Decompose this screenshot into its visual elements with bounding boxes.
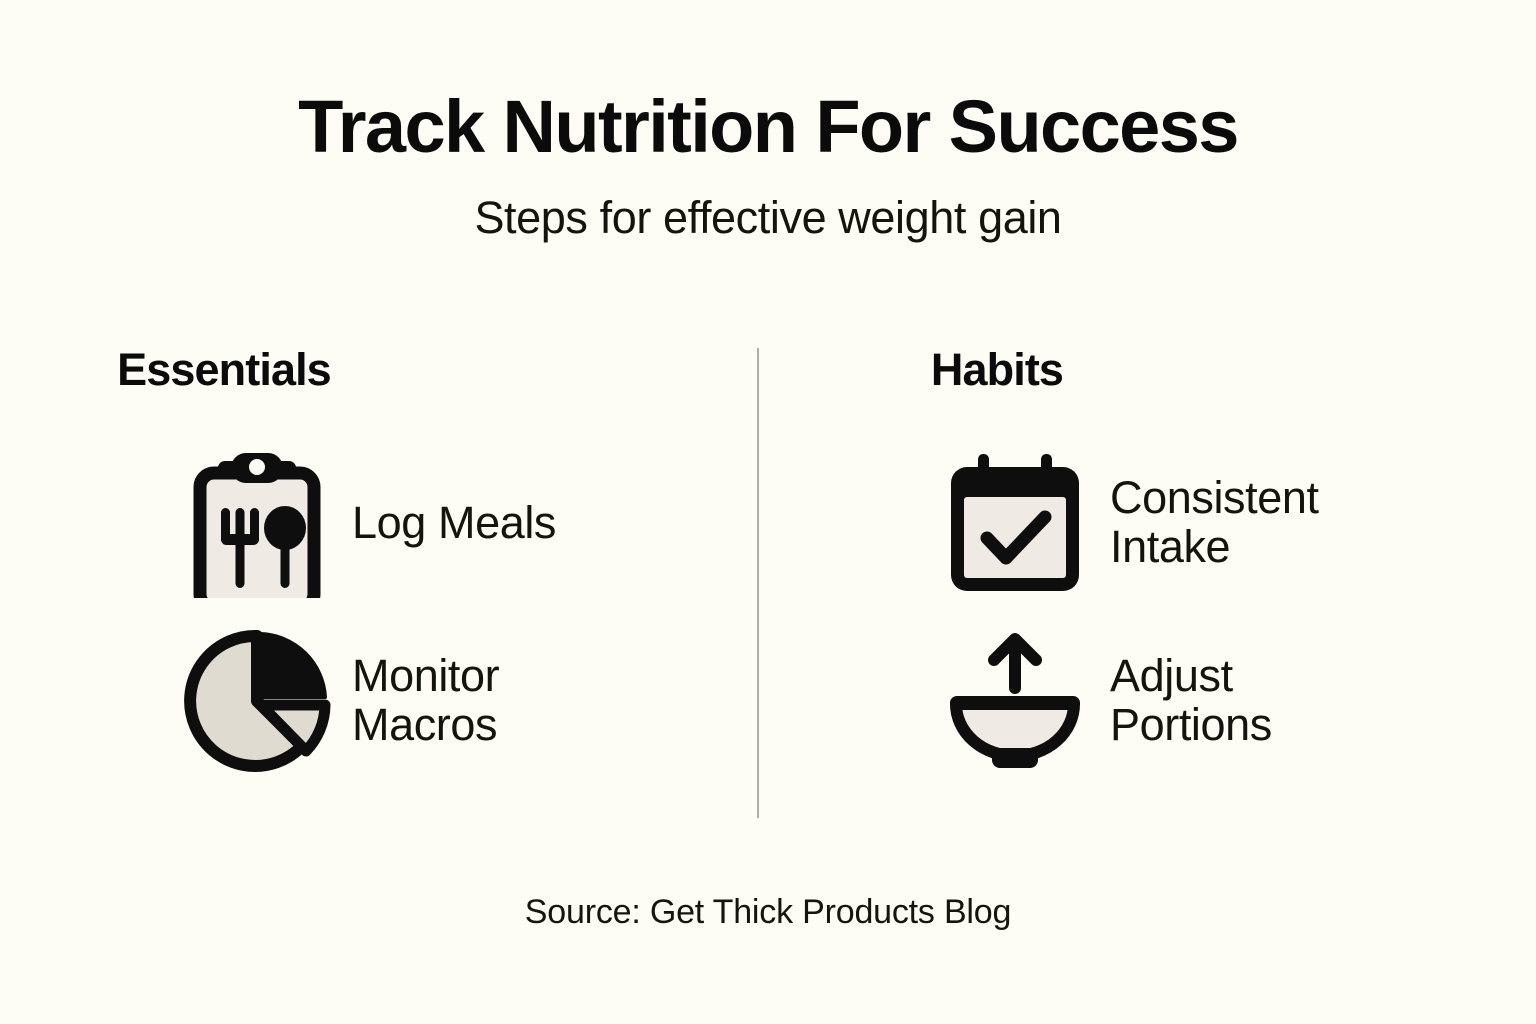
list-item-label: Monitor Macros xyxy=(352,652,499,749)
bowl-arrow-up-icon xyxy=(940,626,1090,776)
footer: Source: Get Thick Products Blog xyxy=(0,893,1536,932)
pie-chart-icon xyxy=(182,626,332,776)
header: Track Nutrition For Success Steps for ef… xyxy=(0,88,1536,244)
column-essentials: Essentials xyxy=(0,344,768,824)
list-item[interactable]: Log Meals xyxy=(40,448,768,598)
column-heading-essentials: Essentials xyxy=(40,344,768,396)
source-attribution: Source: Get Thick Products Blog xyxy=(0,893,1536,932)
infographic-page: Track Nutrition For Success Steps for ef… xyxy=(0,0,1536,1024)
column-heading-habits: Habits xyxy=(868,344,1536,396)
calendar-check-icon xyxy=(940,448,1090,598)
column-habits: Habits xyxy=(768,344,1536,824)
essentials-item-list: Log Meals Monitor Macros xyxy=(40,448,768,776)
clipboard-meal-icon xyxy=(182,448,332,598)
page-subtitle: Steps for effective weight gain xyxy=(0,192,1536,244)
list-item[interactable]: Consistent Intake xyxy=(868,448,1536,598)
list-item-label: Adjust Portions xyxy=(1110,652,1272,749)
habits-item-list: Consistent Intake xyxy=(868,448,1536,776)
list-item-label: Consistent Intake xyxy=(1110,474,1319,571)
list-item[interactable]: Monitor Macros xyxy=(40,626,768,776)
columns-container: Essentials xyxy=(0,344,1536,824)
list-item[interactable]: Adjust Portions xyxy=(868,626,1536,776)
page-title: Track Nutrition For Success xyxy=(0,88,1536,166)
list-item-label: Log Meals xyxy=(352,499,556,548)
